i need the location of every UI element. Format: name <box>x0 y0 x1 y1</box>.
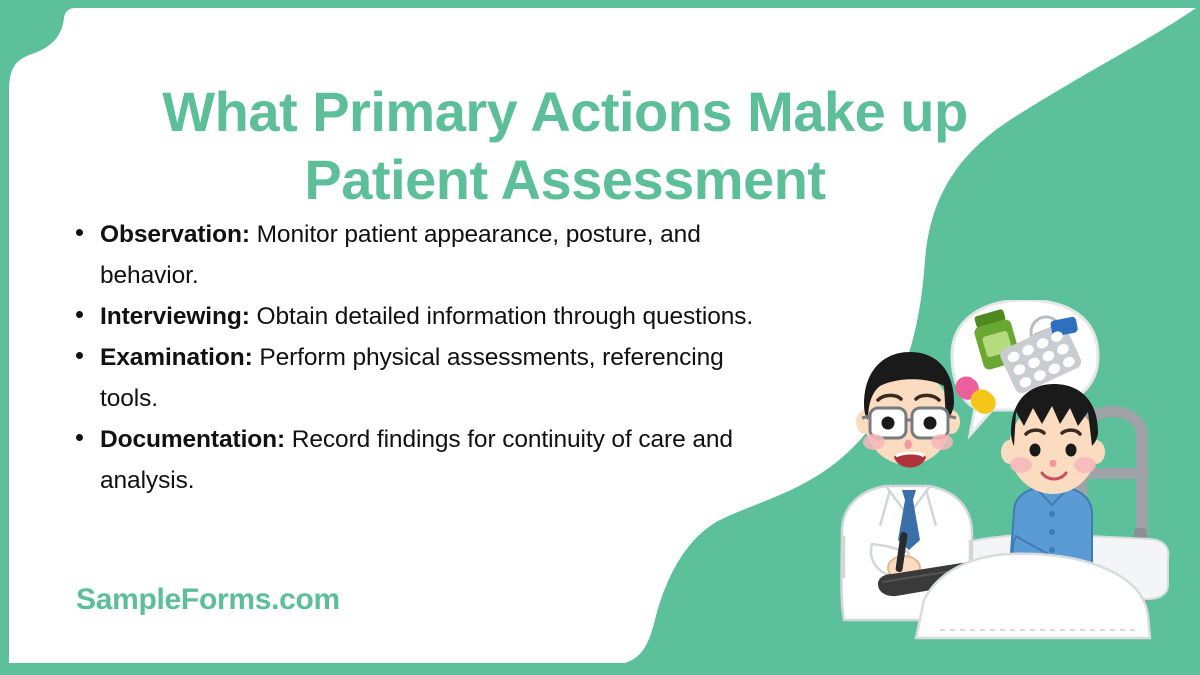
list-item: Observation: Monitor patient appearance,… <box>60 214 760 296</box>
bullet-list: Observation: Monitor patient appearance,… <box>60 214 760 501</box>
patient-cheek-left <box>1010 457 1032 473</box>
bullet-dot-icon <box>76 311 83 318</box>
title-line-2: Patient Assessment <box>60 146 1070 214</box>
list-item: Examination: Perform physical assessment… <box>60 337 760 419</box>
page-title: What Primary Actions Make up Patient Ass… <box>60 78 1070 214</box>
list-item: Interviewing: Obtain detailed informatio… <box>60 296 760 337</box>
title-line-1: What Primary Actions Make up <box>60 78 1070 146</box>
list-item-text: Obtain detailed information through ques… <box>250 303 753 330</box>
patient-eye-left <box>1030 444 1041 457</box>
list-item: Documentation: Record findings for conti… <box>60 419 760 501</box>
infographic-canvas: What Primary Actions Make up Patient Ass… <box>0 0 1200 675</box>
doctor-cheek-left <box>863 434 885 450</box>
bullet-dot-icon <box>76 229 83 236</box>
brand-watermark: SampleForms.com <box>76 583 340 617</box>
patient-nose <box>1050 460 1057 467</box>
list-item-term: Interviewing: <box>100 303 250 330</box>
doctor-patient-illustration <box>820 300 1200 645</box>
list-item-term: Observation: <box>100 221 250 248</box>
list-item-term: Documentation: <box>100 426 285 453</box>
doctor-nose <box>905 440 912 449</box>
doctor-cheek-right <box>931 434 953 450</box>
content-layer: What Primary Actions Make up Patient Ass… <box>0 0 1200 675</box>
bullet-dot-icon <box>76 434 83 441</box>
list-item-term: Examination: <box>100 344 253 371</box>
doctor-eye-right <box>924 417 937 430</box>
bullet-dot-icon <box>76 352 83 359</box>
patient-cheek-right <box>1074 457 1096 473</box>
patient-eye-right <box>1066 444 1077 457</box>
doctor-eye-left <box>882 417 895 430</box>
